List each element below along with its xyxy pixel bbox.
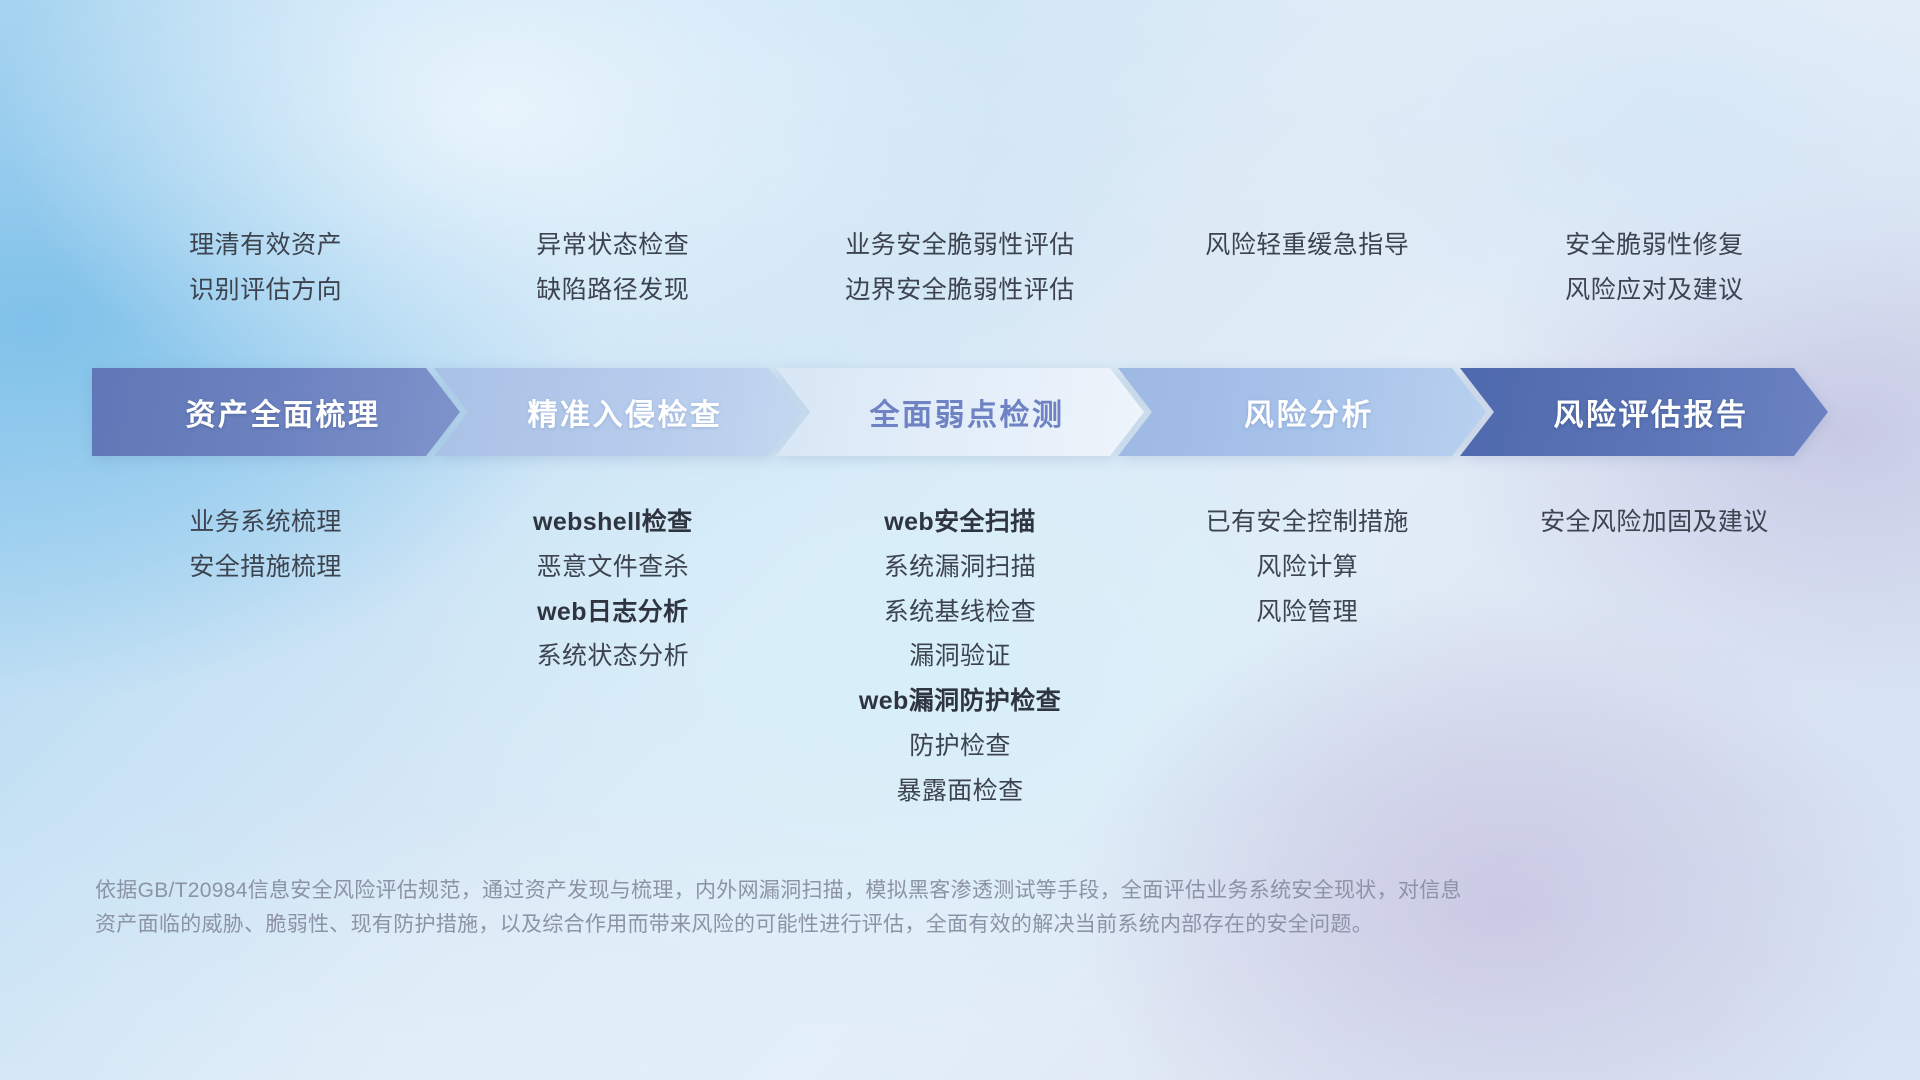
detail-column-1: 业务系统梳理 安全措施梳理 bbox=[92, 508, 439, 582]
flow-step-risk-analysis[interactable]: 风险分析 bbox=[1118, 368, 1486, 456]
top-note: 风险轻重缓急指导 bbox=[1205, 232, 1409, 260]
top-notes-column-3: 业务安全脆弱性评估 边界安全脆弱性评估 bbox=[786, 232, 1133, 304]
flow-step-weakness-detection[interactable]: 全面弱点检测 bbox=[776, 368, 1144, 456]
detail-column-2: webshell检查 恶意文件查杀 web日志分析 系统状态分析 bbox=[439, 508, 786, 671]
list-item: 系统基线检查 bbox=[884, 598, 1036, 627]
top-notes-column-1: 理清有效资产 识别评估方向 bbox=[92, 232, 439, 304]
list-item: 恶意文件查杀 bbox=[537, 553, 689, 582]
process-flow-band: 资产全面梳理 精准入侵检查 全面弱点检测 风险分析 风险评估报告 bbox=[92, 368, 1828, 456]
detail-column-5: 安全风险加固及建议 bbox=[1481, 508, 1828, 537]
list-item: 业务系统梳理 bbox=[189, 508, 341, 537]
top-note: 边界安全脆弱性评估 bbox=[845, 277, 1075, 305]
flow-step-label: 精准入侵检查 bbox=[514, 390, 723, 434]
top-note: 风险应对及建议 bbox=[1565, 277, 1744, 305]
list-item: 系统漏洞扫描 bbox=[884, 553, 1036, 582]
top-notes-column-2: 异常状态检查 缺陷路径发现 bbox=[439, 232, 786, 304]
top-note: 异常状态检查 bbox=[536, 232, 689, 260]
top-notes-column-5: 安全脆弱性修复 风险应对及建议 bbox=[1481, 232, 1828, 304]
top-note: 缺陷路径发现 bbox=[536, 277, 689, 305]
list-item: 安全风险加固及建议 bbox=[1540, 508, 1769, 537]
footer-line-2: 资产面临的威胁、脆弱性、现有防护措施，以及综合作用而带来风险的可能性进行评估，全… bbox=[95, 908, 1655, 942]
top-annotations-row: 理清有效资产 识别评估方向 异常状态检查 缺陷路径发现 业务安全脆弱性评估 边界… bbox=[92, 232, 1828, 304]
detail-lists-row: 业务系统梳理 安全措施梳理 webshell检查 恶意文件查杀 web日志分析 … bbox=[92, 508, 1828, 805]
flow-step-label: 风险分析 bbox=[1230, 390, 1374, 434]
slide-canvas: 理清有效资产 识别评估方向 异常状态检查 缺陷路径发现 业务安全脆弱性评估 边界… bbox=[0, 0, 1920, 1080]
list-item: 暴露面检查 bbox=[896, 777, 1023, 806]
list-item: web漏洞防护检查 bbox=[859, 687, 1061, 716]
top-note: 理清有效资产 bbox=[189, 232, 342, 260]
list-item: webshell检查 bbox=[533, 508, 693, 537]
list-item: 漏洞验证 bbox=[909, 642, 1011, 671]
list-item: 安全措施梳理 bbox=[189, 553, 341, 582]
detail-column-3: web安全扫描 系统漏洞扫描 系统基线检查 漏洞验证 web漏洞防护检查 防护检… bbox=[786, 508, 1133, 805]
flow-step-label: 风险评估报告 bbox=[1540, 390, 1749, 434]
flow-step-asset-inventory[interactable]: 资产全面梳理 bbox=[92, 368, 460, 456]
detail-column-4: 已有安全控制措施 风险计算 风险管理 bbox=[1134, 508, 1481, 626]
flow-step-label: 资产全面梳理 bbox=[172, 390, 381, 434]
top-note: 业务安全脆弱性评估 bbox=[845, 232, 1075, 260]
list-item: 风险管理 bbox=[1256, 598, 1358, 627]
footer-description: 依据GB/T20984信息安全风险评估规范，通过资产发现与梳理，内外网漏洞扫描，… bbox=[95, 874, 1655, 942]
top-notes-column-4: 风险轻重缓急指导 bbox=[1134, 232, 1481, 304]
footer-line-1: 依据GB/T20984信息安全风险评估规范，通过资产发现与梳理，内外网漏洞扫描，… bbox=[95, 874, 1655, 908]
list-item: 系统状态分析 bbox=[537, 642, 689, 671]
list-item: web日志分析 bbox=[537, 598, 688, 627]
flow-step-risk-report[interactable]: 风险评估报告 bbox=[1460, 368, 1828, 456]
list-item: 防护检查 bbox=[909, 732, 1011, 761]
flow-step-intrusion-check[interactable]: 精准入侵检查 bbox=[434, 368, 802, 456]
list-item: 已有安全控制措施 bbox=[1206, 508, 1409, 537]
list-item: 风险计算 bbox=[1256, 553, 1358, 582]
top-note: 识别评估方向 bbox=[189, 277, 342, 305]
list-item: web安全扫描 bbox=[884, 508, 1035, 537]
top-note: 安全脆弱性修复 bbox=[1565, 232, 1744, 260]
flow-step-label: 全面弱点检测 bbox=[856, 390, 1065, 434]
